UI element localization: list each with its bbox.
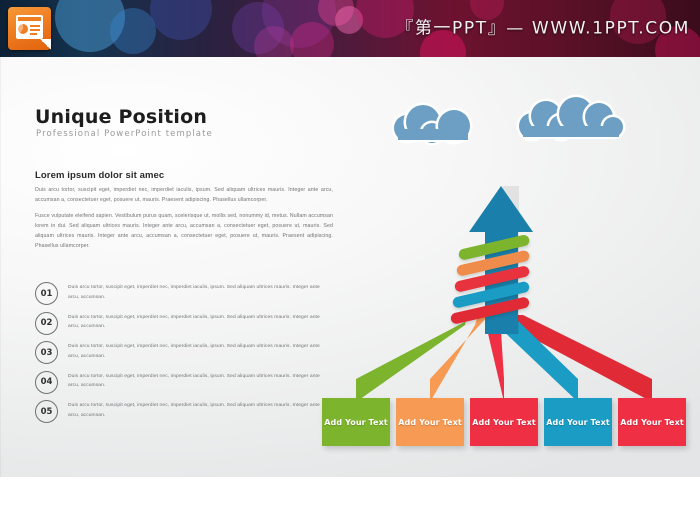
cloud-left-icon <box>392 105 482 139</box>
page-subtitle: Professional PowerPoint template <box>36 129 213 139</box>
slide-canvas: 『第一PPT』— WWW.1PPT.COM Unique Position Pr… <box>0 0 700 525</box>
text-box-3[interactable]: Add Your Text <box>470 398 538 446</box>
text-box-5[interactable]: Add Your Text <box>618 398 686 446</box>
list-item[interactable]: 03 Duis arcu tortor, suscipit eget, impe… <box>35 341 335 364</box>
site-title: 『第一PPT』— WWW.1PPT.COM <box>396 14 690 39</box>
arrow-shaft <box>485 229 518 334</box>
lead-heading: Lorem ipsum dolor sit amec <box>35 170 164 181</box>
slide-body: Unique Position Professional PowerPoint … <box>0 57 700 477</box>
text-box-4[interactable]: Add Your Text <box>544 398 612 446</box>
list-item-text: Duis arcu tortor, suscipit eget, imperdi… <box>68 283 323 303</box>
cloud-right-icon <box>519 99 627 139</box>
ribbon-2 <box>430 315 489 402</box>
band-3 <box>454 265 531 293</box>
list-item[interactable]: 02 Duis arcu tortor, suscipit eget, impe… <box>35 312 335 335</box>
body-paragraph: Fusce vulputate eleifend sapien. Vestibu… <box>35 211 333 252</box>
ribbon-fan-diagram <box>0 57 700 477</box>
list-item[interactable]: 04 Duis arcu tortor, suscipit eget, impe… <box>35 371 335 394</box>
list-item[interactable]: 01 Duis arcu tortor, suscipit eget, impe… <box>35 282 335 305</box>
list-number-badge: 02 <box>35 312 58 335</box>
text-box-2[interactable]: Add Your Text <box>396 398 464 446</box>
list-item-text: Duis arcu tortor, suscipit eget, imperdi… <box>68 401 323 421</box>
header-banner: 『第一PPT』— WWW.1PPT.COM <box>0 0 700 57</box>
text-box-label: Add Your Text <box>546 418 610 427</box>
text-box-label: Add Your Text <box>324 418 388 427</box>
list-item-text: Duis arcu tortor, suscipit eget, imperdi… <box>68 313 323 333</box>
arrow-head <box>469 186 533 232</box>
list-item-text: Duis arcu tortor, suscipit eget, imperdi… <box>68 342 323 362</box>
ribbon-3 <box>486 315 504 402</box>
text-box-1[interactable]: Add Your Text <box>322 398 390 446</box>
list-number-badge: 03 <box>35 341 58 364</box>
text-box-label: Add Your Text <box>472 418 536 427</box>
band-2 <box>456 249 531 276</box>
footer-bar: 第一PPT HTTP://WWW.1PPT.COM <box>0 477 700 525</box>
band-5 <box>450 296 530 325</box>
page-title: Unique Position <box>35 106 207 128</box>
bokeh-circle <box>150 0 212 40</box>
band-1 <box>458 234 531 261</box>
arrow-shadow <box>503 186 519 334</box>
list-number-badge: 01 <box>35 282 58 305</box>
numbered-list: 01 Duis arcu tortor, suscipit eget, impe… <box>35 282 335 430</box>
ribbon-4 <box>497 315 578 402</box>
powerpoint-logo-icon <box>8 7 51 50</box>
list-item[interactable]: 05 Duis arcu tortor, suscipit eget, impe… <box>35 400 335 423</box>
band-4 <box>452 281 530 309</box>
list-number-badge: 04 <box>35 371 58 394</box>
ribbon-1 <box>356 315 478 402</box>
body-paragraph: Duis arcu tortor, suscipit eget, imperdi… <box>35 185 333 205</box>
list-number-badge: 05 <box>35 400 58 423</box>
bokeh-circle <box>110 8 156 54</box>
ribbon-5 <box>508 315 652 402</box>
text-box-label: Add Your Text <box>398 418 462 427</box>
text-box-label: Add Your Text <box>620 418 684 427</box>
list-item-text: Duis arcu tortor, suscipit eget, imperdi… <box>68 372 323 392</box>
